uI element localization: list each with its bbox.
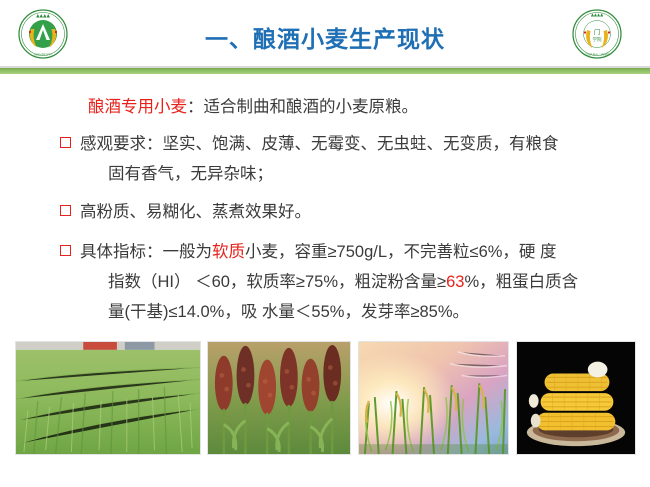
square-bullet-icon [60, 205, 71, 216]
slide-header: ▲▲▲▲ UNIVERSITY 一、酿酒小麦生产现状 门 学院 ▲▲▲▲ AGR… [0, 0, 650, 70]
bullet-text-sensory-line2: 固有香气，无异杂味； [108, 165, 273, 183]
svg-text:门: 门 [594, 27, 601, 36]
slide-body: 酿酒专用小麦：适合制曲和酿酒的小麦原粮。 感观要求：坚实、饱满、皮薄、无霉变、无… [0, 82, 650, 332]
bullet-separator: ： [146, 135, 163, 153]
bullet-label-processing: 高粉质、易糊化、蒸煮效果好。 [80, 203, 311, 221]
svg-text:▲▲▲▲: ▲▲▲▲ [36, 14, 50, 19]
photo-wheat-field [15, 341, 201, 455]
definition-term: 酿酒专用小麦 [88, 98, 187, 116]
definition-line: 酿酒专用小麦：适合制曲和酿酒的小麦原粮。 [88, 92, 418, 122]
university-seal-right-icon: 门 学院 ▲▲▲▲ AGRICULTURAL UNIVERSITY [572, 9, 622, 59]
bullet-text-indicators-line3: 量(干基)≤14.0%，吸 水量＜55%，发芽率≥85%。 [108, 303, 469, 321]
bullet-text-indicators-line2-pre: 指数（HI） ＜60，软质率≥75%，粗淀粉含量≥ [108, 273, 446, 291]
bullet-text-indicators-line2-post: %，粗蛋白质含 [464, 273, 578, 291]
photo-rice-sunrise [358, 341, 509, 455]
bullet-label-sensory: 感观要求 [80, 135, 146, 153]
slide-root: ▲▲▲▲ UNIVERSITY 一、酿酒小麦生产现状 门 学院 ▲▲▲▲ AGR… [0, 0, 650, 487]
page-title: 一、酿酒小麦生产现状 [0, 20, 650, 54]
highlight-soft-wheat: 软质 [212, 243, 245, 261]
photo-corn-plate [516, 341, 636, 455]
svg-text:▲▲▲▲: ▲▲▲▲ [591, 12, 604, 17]
bullet-text-sensory-line1: 坚实、饱满、皮薄、无霉变、无虫蛀、无变质，有粮食 [163, 135, 559, 153]
bullet-item-indicators: 具体指标：一般为软质小麦，容重≥750g/L，不完善粒≤6%，硬 度 [60, 237, 557, 267]
bullet-text-indicators-line1: 小麦，容重≥750g/L，不完善粒≤6%，硬 度 [245, 243, 557, 261]
svg-text:AGRICULTURAL UNIVERSITY: AGRICULTURAL UNIVERSITY [578, 53, 616, 57]
header-divider [0, 68, 650, 74]
bullet-item-sensory: 感观要求：坚实、饱满、皮薄、无霉变、无虫蛀、无变质，有粮食 [60, 129, 559, 159]
definition-text: 适合制曲和酿酒的小麦原粮。 [204, 98, 419, 116]
square-bullet-icon [60, 137, 71, 148]
bullet-text-indicators-line2-wrap: 指数（HI） ＜60，软质率≥75%，粗淀粉含量≥63%，粗蛋白质含 [108, 267, 578, 297]
bullet-item-processing: 高粉质、易糊化、蒸煮效果好。 [60, 197, 311, 227]
photo-sorghum [207, 341, 351, 455]
highlight-starch-value: 63 [446, 273, 464, 291]
square-bullet-icon [60, 245, 71, 256]
definition-separator: ： [187, 98, 204, 116]
bullet-text-indicators-line3-wrap: 量(干基)≤14.0%，吸 水量＜55%，发芽率≥85%。 [108, 297, 469, 327]
bullet-label-indicators: 具体指标：一般为 [80, 243, 212, 261]
bullet-text-sensory-line2-wrap: 固有香气，无异杂味； [108, 159, 273, 189]
photo-strip [0, 341, 650, 457]
